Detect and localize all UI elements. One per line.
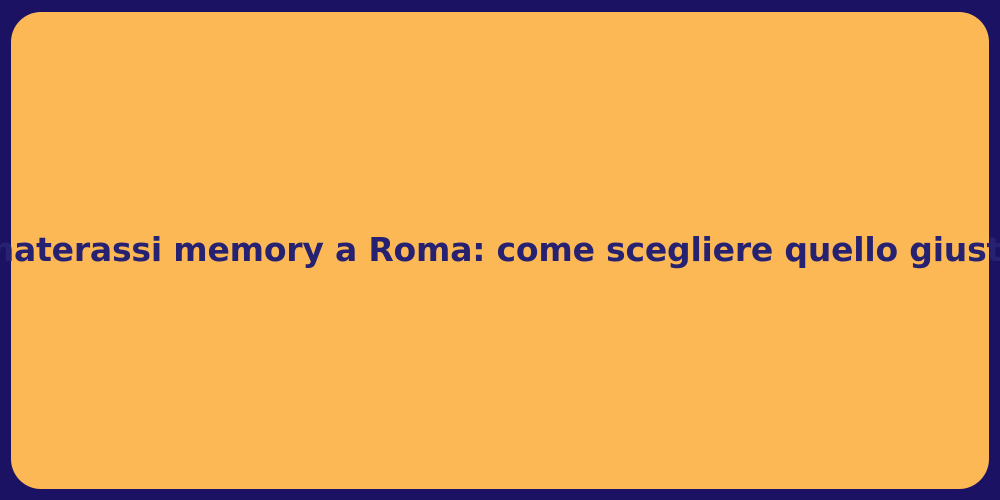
banner-card: I materassi memory a Roma: come sceglier… bbox=[11, 12, 989, 489]
banner-title: I materassi memory a Roma: come sceglier… bbox=[0, 229, 1000, 270]
banner-border-frame: I materassi memory a Roma: come sceglier… bbox=[0, 0, 1000, 500]
